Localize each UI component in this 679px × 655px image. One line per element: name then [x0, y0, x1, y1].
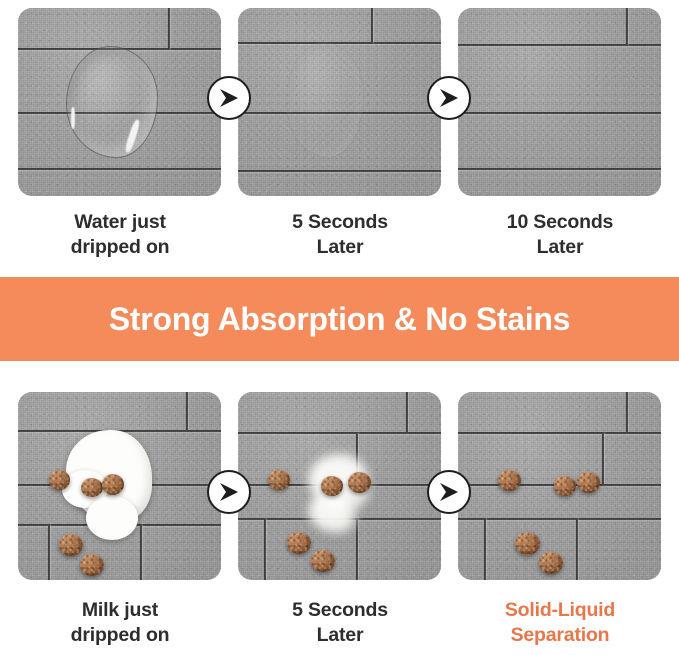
grout-line-horizontal: [458, 432, 661, 434]
right-arrow-icon: [218, 482, 240, 502]
kibble-piece: [515, 532, 540, 555]
grout-line-vertical: [626, 392, 628, 432]
bottom-panel-row: [0, 392, 679, 580]
bottom-caption-row: Milk just dripped on 5 Seconds Later Sol…: [0, 598, 679, 649]
top-arrow-2-badge: [427, 76, 471, 120]
headline-banner: Strong Absorption & No Stains: [0, 277, 679, 361]
grout-line-horizontal: [458, 168, 661, 170]
grout-line-horizontal: [458, 112, 661, 114]
kibble-piece: [311, 550, 335, 572]
grout-line-vertical: [406, 392, 408, 432]
grout-line-vertical: [186, 392, 188, 430]
caption-line: Later: [230, 235, 450, 260]
kibble-piece: [59, 534, 83, 556]
grout-line-vertical: [576, 518, 578, 580]
caption-line: dripped on: [10, 235, 230, 260]
kibble-piece: [287, 532, 311, 554]
headline-text: Strong Absorption & No Stains: [109, 301, 570, 338]
grout-line-horizontal: [18, 168, 221, 170]
top-arrow-1-badge: [207, 76, 251, 120]
milk-panel-puddle: [18, 392, 221, 580]
grout-line-vertical: [140, 524, 142, 580]
caption-line: Solid-Liquid: [450, 598, 670, 623]
caption-line: Separation: [450, 623, 670, 648]
top-caption-row: Water just dripped on 5 Seconds Later 10…: [0, 210, 679, 261]
water-panel-full-droplet: [18, 8, 221, 196]
grout-line-vertical: [484, 518, 486, 580]
grout-line-horizontal: [458, 44, 661, 46]
caption-milk-step-1: Milk just dripped on: [10, 598, 230, 649]
kibble-piece: [102, 474, 124, 495]
caption-milk-step-2: 5 Seconds Later: [230, 598, 450, 649]
water-panel-partially-absorbed: [238, 8, 441, 196]
right-arrow-icon: [218, 88, 240, 108]
grout-line-vertical: [264, 518, 266, 580]
right-arrow-icon: [438, 482, 460, 502]
grout-line-horizontal: [238, 432, 441, 434]
caption-line: Water just: [10, 210, 230, 235]
water-droplet: [66, 46, 158, 158]
grout-line-vertical: [48, 524, 50, 580]
grout-line-horizontal: [238, 42, 441, 44]
caption-water-step-2: 5 Seconds Later: [230, 210, 450, 261]
grout-line-vertical: [371, 8, 373, 44]
kibble-piece: [554, 476, 576, 496]
grout-line-vertical: [626, 8, 628, 46]
milk-panel-absorbing: [238, 392, 441, 580]
grout-line-vertical: [356, 518, 358, 580]
droplet-highlight: [124, 119, 141, 153]
water-panel-fully-absorbed: [458, 8, 661, 196]
grout-line-vertical: [602, 432, 604, 484]
kibble-piece: [80, 554, 104, 576]
kibble-piece: [348, 472, 371, 493]
kibble-piece: [498, 470, 521, 491]
infographic-page: Water just dripped on 5 Seconds Later 10…: [0, 0, 679, 655]
kibble-piece: [268, 470, 290, 490]
caption-milk-step-3: Solid-Liquid Separation: [450, 598, 670, 649]
kibble-piece: [577, 472, 600, 493]
top-panel-row: [0, 8, 679, 196]
bottom-arrow-1-badge: [207, 470, 251, 514]
caption-line: Later: [230, 623, 450, 648]
caption-line: 5 Seconds: [230, 598, 450, 623]
kibble-piece: [49, 470, 70, 490]
caption-line: dripped on: [10, 623, 230, 648]
caption-line: 10 Seconds: [450, 210, 670, 235]
caption-line: Later: [450, 235, 670, 260]
milk-panel-dry-separated: [458, 392, 661, 580]
milk-puddle-lobe: [86, 496, 138, 540]
right-arrow-icon: [438, 88, 460, 108]
kibble-piece: [321, 476, 343, 496]
caption-line: Milk just: [10, 598, 230, 623]
droplet-highlight: [71, 107, 75, 129]
kibble-piece: [81, 478, 103, 497]
bottom-arrow-2-badge: [427, 470, 471, 514]
grout-line-horizontal: [458, 518, 661, 520]
caption-water-step-3: 10 Seconds Later: [450, 210, 670, 261]
kibble-piece: [539, 552, 563, 574]
water-droplet-faded: [286, 42, 364, 158]
caption-water-step-1: Water just dripped on: [10, 210, 230, 261]
caption-line: 5 Seconds: [230, 210, 450, 235]
grout-line-vertical: [168, 8, 170, 50]
grout-line-horizontal: [238, 170, 441, 172]
